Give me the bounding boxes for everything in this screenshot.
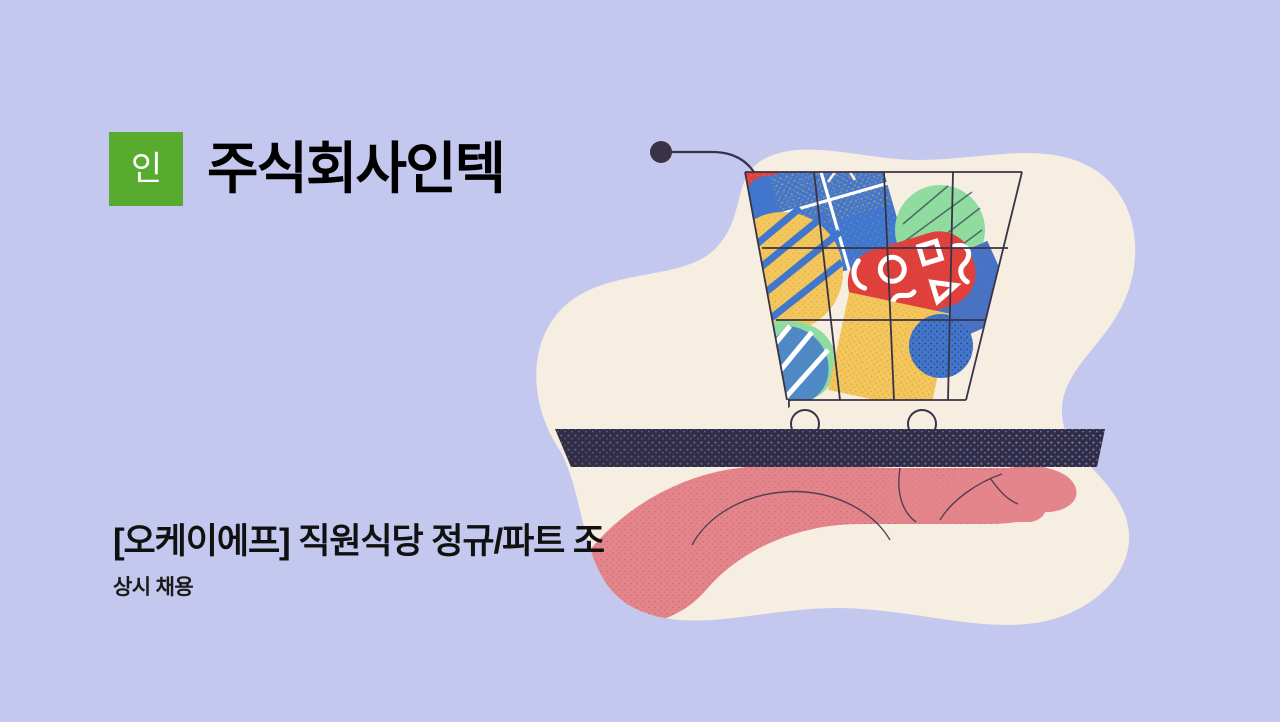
job-posting-card: 인 주식회사인텍 [오케이에프] 직원식당 정규/파트 조 상시 채용: [0, 0, 1280, 722]
company-badge-label: 인: [131, 152, 161, 186]
job-info-block: [오케이에프] 직원식당 정규/파트 조 상시 채용: [113, 521, 673, 598]
job-status-badge: 상시 채용: [113, 577, 673, 598]
company-header: 인 주식회사인텍: [109, 132, 504, 206]
conveyor-bar: [555, 429, 1105, 467]
company-name: 주식회사인텍: [207, 141, 504, 197]
item-blue-speckled-circle: [909, 314, 973, 378]
job-title: [오케이에프] 직원식당 정규/파트 조: [113, 521, 673, 564]
cart-handle-knob: [650, 141, 672, 163]
company-badge: 인: [109, 132, 183, 206]
shopping-cart-illustration: [0, 0, 1280, 722]
